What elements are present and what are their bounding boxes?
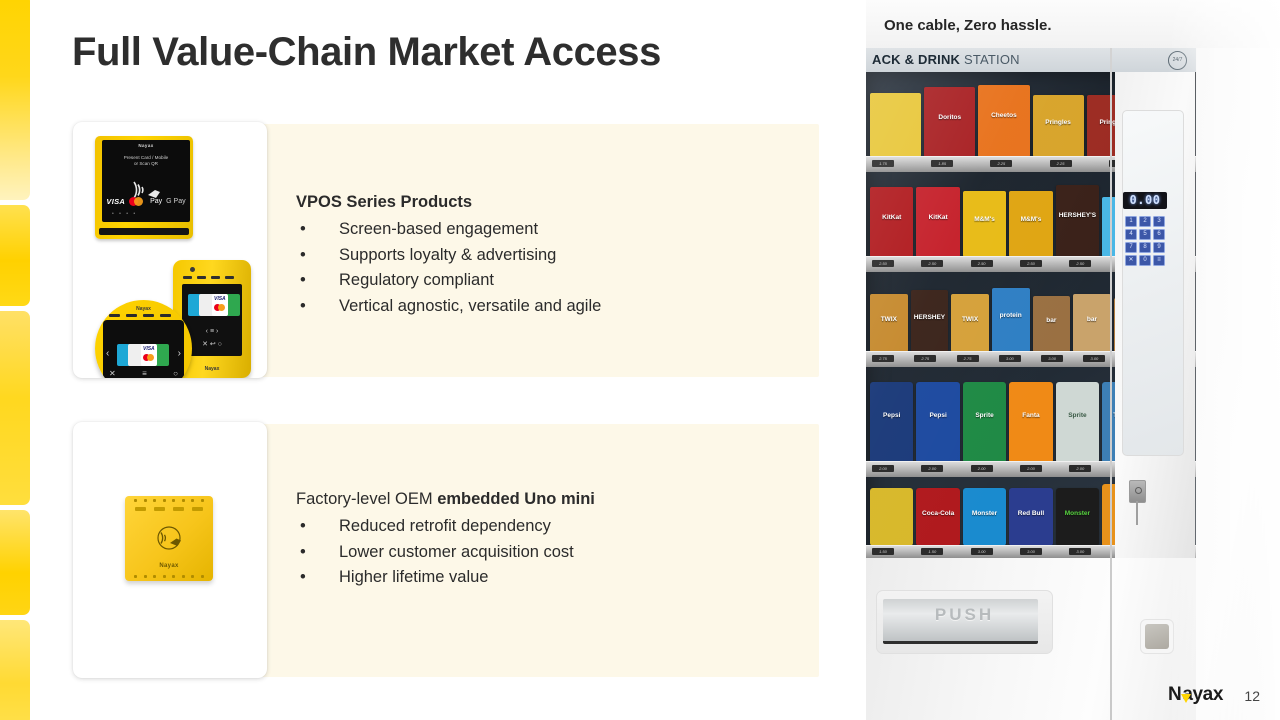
product-label: Fanta: [1009, 412, 1052, 419]
uno-heading-bold: embedded Uno mini: [437, 490, 595, 508]
accent-bar-3: [0, 311, 30, 505]
product-label: TWIX: [951, 316, 989, 323]
apple-pay-logo: Pay: [148, 198, 162, 205]
bullet-dot-icon: •: [300, 217, 306, 243]
keypad-key-7[interactable]: 7: [1125, 242, 1137, 253]
round-visa-logo: VISA: [143, 346, 155, 352]
chevron-right-icon: ›: [178, 348, 181, 359]
uno-thumbnail-card: Nayax: [73, 422, 267, 678]
close-icon: ✕: [109, 369, 116, 378]
nayax-logo: NNayaxayax: [1168, 684, 1223, 706]
product-label: HERSHEY'S: [1056, 212, 1099, 219]
vpos-thumbnail-card: Nayax Present Card / Mobile or Scan QR V…: [73, 122, 267, 378]
product-item: Sprite: [1056, 382, 1099, 462]
product-label: M&M's: [1009, 216, 1052, 223]
keypad-key-0[interactable]: 0: [1139, 255, 1151, 266]
list-item: •Lower customer acquisition cost: [296, 540, 595, 566]
price-tag: 2.00: [872, 465, 894, 472]
price-tag: 2.50: [971, 260, 993, 267]
screen-dots: • • • •: [112, 211, 137, 217]
product-item: Pringles: [1033, 95, 1084, 157]
product-label: Pepsi: [870, 412, 913, 419]
product-label: HERSHEY: [911, 314, 949, 321]
vending-machine-photo-panel: One cable, Zero hassle. ACK & DRINK STAT…: [866, 0, 1280, 720]
price-tag: 2.50: [1020, 260, 1042, 267]
photo-caption: One cable, Zero hassle.: [884, 17, 1052, 34]
keypad-key-cancel[interactable]: ✕: [1125, 255, 1137, 266]
device-pins-top: [134, 499, 204, 502]
product-item: KitKat: [916, 187, 959, 257]
product-item: Cheetos: [978, 85, 1029, 157]
page-number: 12: [1244, 688, 1260, 704]
payment-logos: VISA Pay G Pay: [102, 197, 190, 206]
uno-heading-regular: Factory-level OEM: [296, 490, 437, 508]
product-item: protein: [992, 288, 1030, 352]
product-item: Fanta: [1009, 382, 1052, 462]
price-tag: 3.00: [1083, 355, 1105, 362]
product-label: Sprite: [963, 412, 1006, 419]
product-item: [870, 488, 913, 546]
product-item: Pepsi: [916, 382, 959, 462]
product-label: protein: [992, 312, 1030, 319]
product-label: Sprite: [1056, 412, 1099, 419]
product-label: KitKat: [870, 214, 913, 221]
circle-icon: ○: [173, 369, 178, 378]
banner-text-light: STATION: [960, 52, 1020, 67]
product-label: M&M's: [963, 216, 1006, 223]
keypad-key-6[interactable]: 6: [1153, 229, 1165, 240]
card-slot: [99, 228, 189, 235]
lock-key-stem: [1136, 501, 1138, 525]
price-tag: 2.25: [1050, 160, 1072, 167]
product-item: M&M's: [963, 191, 1006, 257]
bullet-text: Regulatory compliant: [339, 271, 494, 289]
product-label: Coca-Cola: [916, 510, 959, 517]
price-tag: 3.00: [1069, 548, 1091, 555]
accent-bar-5: [0, 620, 30, 720]
list-item: •Supports loyalty & advertising: [296, 243, 601, 269]
vpos-heading-bold: VPOS Series Products: [296, 193, 472, 211]
bullet-text: Screen-based engagement: [339, 220, 538, 238]
list-item: •Regulatory compliant: [296, 268, 601, 294]
keypad-key-enter[interactable]: ≡: [1153, 255, 1165, 266]
device-brand-label: Nayax: [125, 563, 213, 569]
price-tag: 2.50: [1069, 260, 1091, 267]
product-item: Pepsi: [870, 382, 913, 462]
price-tag: 1.75: [872, 160, 894, 167]
bullet-dot-icon: •: [300, 268, 306, 294]
price-tag: 1.50: [921, 548, 943, 555]
product-item: [870, 93, 921, 157]
logo-wedge-icon: [1181, 694, 1191, 703]
product-item: bar: [1073, 294, 1111, 352]
control-panel-face: [1122, 110, 1184, 456]
machine-banner: ACK & DRINK STATION 24/7: [866, 48, 1196, 72]
price-tag: 3.00: [1041, 355, 1063, 362]
price-tag: 1.50: [872, 548, 894, 555]
card-fan-graphic: VISA: [188, 294, 238, 318]
bullet-dot-icon: •: [300, 565, 306, 591]
product-label: Pringles: [1033, 119, 1084, 126]
product-item: Red Bull: [1009, 488, 1052, 546]
product-item: Doritos: [924, 87, 975, 157]
machine-door-seam: [1110, 48, 1112, 720]
visa-logo: VISA: [106, 197, 125, 206]
round-terminal-vents: [109, 314, 171, 317]
round-card-fan-graphic: VISA: [117, 344, 167, 368]
product-label: Monster: [1056, 510, 1099, 517]
nav-row-primary: ‹ ≡ ›: [182, 328, 242, 335]
vpos-heading: VPOS Series Products: [296, 193, 601, 212]
list-item: •Reduced retrofit dependency: [296, 514, 595, 540]
bullet-text: Vertical agnostic, versatile and agile: [339, 297, 601, 315]
terminal-brand-label: Nayax: [102, 143, 190, 148]
product-label: Doritos: [924, 114, 975, 121]
round-nav-row: ✕ ≡ ○: [109, 369, 178, 378]
price-tag: 2.00: [1069, 465, 1091, 472]
product-item: HERSHEY: [911, 290, 949, 352]
prompt-line-2: or Scan QR: [134, 161, 158, 166]
product-item: Sprite: [963, 382, 1006, 462]
menu-icon: ≡: [142, 369, 147, 378]
product-label: KitKat: [916, 214, 959, 221]
uno-heading: Factory-level OEM embedded Uno mini: [296, 490, 595, 509]
banner-text-bold: ACK & DRINK: [872, 52, 960, 67]
bullet-dot-icon: •: [300, 243, 306, 269]
list-item: •Screen-based engagement: [296, 217, 601, 243]
product-label: TWIX: [870, 316, 908, 323]
lock-icon[interactable]: [1129, 480, 1146, 503]
bullet-text: Higher lifetime value: [339, 568, 488, 586]
product-item: M&M's: [1009, 191, 1052, 257]
list-item: •Vertical agnostic, versatile and agile: [296, 294, 601, 320]
bullet-text: Lower customer acquisition cost: [339, 543, 574, 561]
page-title: Full Value-Chain Market Access: [72, 30, 661, 75]
product-item: HERSHEY'S: [1056, 185, 1099, 257]
price-tag: 2.50: [872, 260, 894, 267]
price-tag: 3.00: [1020, 548, 1042, 555]
vpos-round-terminal: Nayax VISA ‹ › ✕ ≡ ○ ↩: [95, 300, 192, 378]
prompt-line-1: Present Card / Mobile: [124, 155, 168, 160]
keypad-key-4[interactable]: 4: [1125, 229, 1137, 240]
product-label: bar: [1033, 317, 1071, 324]
product-label: bar: [1073, 316, 1111, 323]
visa-card-logo: VISA: [214, 296, 226, 302]
price-tag: 3.00: [971, 548, 993, 555]
uno-mini-device: Nayax: [125, 496, 213, 581]
price-tag: 2.00: [921, 465, 943, 472]
bullet-dot-icon: •: [300, 294, 306, 320]
product-item: KitKat: [870, 187, 913, 257]
price-tag: 2.75: [872, 355, 894, 362]
price-tag: 2.50: [921, 260, 943, 267]
keypad-key-2[interactable]: 2: [1139, 216, 1151, 227]
terminal-prompt: Present Card / Mobile or Scan QR: [102, 155, 190, 167]
terminal-screen: Nayax Present Card / Mobile or Scan QR V…: [102, 140, 190, 222]
product-label: Cheetos: [978, 112, 1029, 119]
uno-mini-device-photo: Nayax: [73, 422, 267, 678]
accent-bar-2: [0, 205, 30, 306]
list-item: •Higher lifetime value: [296, 565, 595, 591]
machine-control-column: 0.00 1 2 3 4 5 6 7 8 9 ✕ 0 ≡: [1115, 72, 1195, 558]
product-item: Monster: [963, 488, 1006, 546]
price-tag: 3.00: [999, 355, 1021, 362]
product-item: TWIX: [870, 294, 908, 352]
price-tag: 2.00: [971, 465, 993, 472]
keypad-key-3[interactable]: 3: [1153, 216, 1165, 227]
price-tag: 2.25: [990, 160, 1012, 167]
uno-bullet-list: •Reduced retrofit dependency •Lower cust…: [296, 514, 595, 591]
mastercard-card-logo: [214, 304, 225, 311]
accent-bar-1: [0, 0, 30, 200]
camera-icon: [190, 267, 195, 272]
vpos-text-block: VPOS Series Products •Screen-based engag…: [296, 193, 601, 319]
price-tag: 2.75: [957, 355, 979, 362]
product-item: Monster: [1056, 488, 1099, 546]
product-label: Red Bull: [1009, 510, 1052, 517]
keypad-key-1[interactable]: 1: [1125, 216, 1137, 227]
uno-text-block: Factory-level OEM embedded Uno mini •Red…: [296, 490, 595, 591]
product-item: TWIX: [951, 294, 989, 352]
bullet-dot-icon: •: [300, 540, 306, 566]
device-pins-bottom: [134, 575, 204, 578]
google-pay-logo: G Pay: [166, 198, 185, 205]
keypad-key-5[interactable]: 5: [1139, 229, 1151, 240]
device-ports: [135, 507, 203, 511]
vpos-wall-terminal: Nayax Present Card / Mobile or Scan QR V…: [95, 136, 193, 239]
keypad-key-8[interactable]: 8: [1139, 242, 1151, 253]
contactless-icon: [152, 526, 186, 550]
product-label: Pepsi: [916, 412, 959, 419]
product-label: Monster: [963, 510, 1006, 517]
vpos-bullet-list: •Screen-based engagement •Supports loyal…: [296, 217, 601, 319]
slide-canvas: Full Value-Chain Market Access Nayax Pre…: [0, 0, 1280, 720]
machine-keypad[interactable]: 1 2 3 4 5 6 7 8 9 ✕ 0 ≡: [1125, 216, 1165, 266]
bullet-text: Supports loyalty & advertising: [339, 246, 556, 264]
terminal-vents: [183, 276, 234, 279]
price-tag: 2.75: [914, 355, 936, 362]
price-tag: 2.00: [1020, 465, 1042, 472]
bullet-dot-icon: •: [300, 514, 306, 540]
round-terminal-brand: Nayax: [95, 306, 192, 312]
keypad-key-9[interactable]: 9: [1153, 242, 1165, 253]
price-tag: 1.85: [931, 160, 953, 167]
push-label: PUSH: [877, 605, 1052, 625]
dispenser-flap[interactable]: PUSH: [876, 590, 1053, 654]
round-mastercard-logo: [143, 354, 154, 361]
accent-bar-4: [0, 510, 30, 615]
product-item: Coca-Cola: [916, 488, 959, 546]
product-item: bar: [1033, 296, 1071, 352]
price-display[interactable]: 0.00: [1123, 192, 1167, 209]
mastercard-logo: [129, 197, 144, 206]
chevron-left-icon: ‹: [106, 348, 109, 359]
banner-text: ACK & DRINK STATION: [872, 52, 1020, 67]
bullet-text: Reduced retrofit dependency: [339, 517, 551, 535]
vpos-terminals-photo: Nayax Present Card / Mobile or Scan QR V…: [73, 122, 267, 378]
